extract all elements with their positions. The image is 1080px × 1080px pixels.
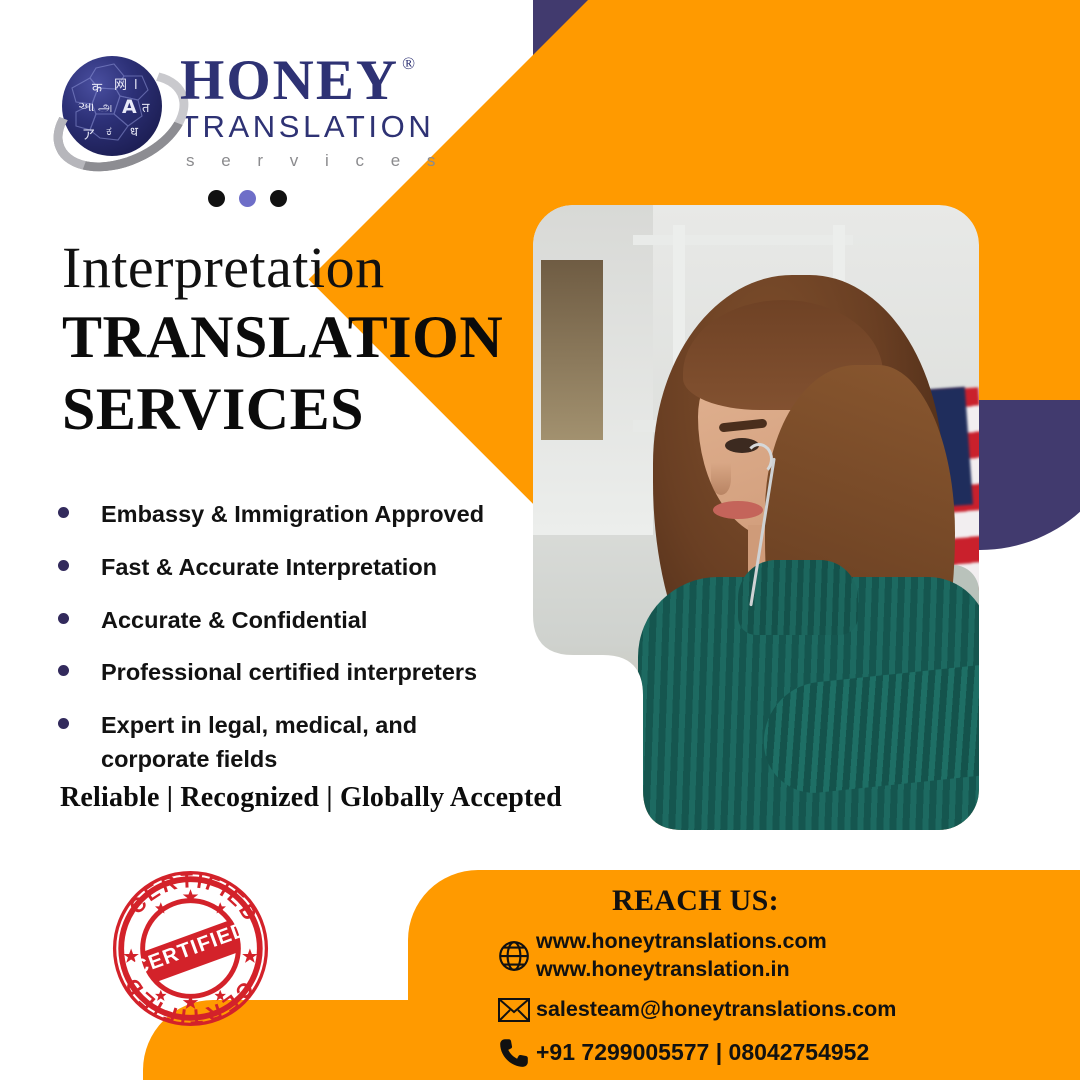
- feature-list: Embassy & Immigration Approved Fast & Ac…: [58, 498, 528, 796]
- tagline: Reliable | Recognized | Globally Accepte…: [60, 782, 562, 814]
- globe-icon: क 网 ا આ அ A त ア ಕ ध: [54, 48, 172, 166]
- list-item: Embassy & Immigration Approved: [58, 498, 528, 532]
- dot-2-accent: [239, 190, 256, 207]
- bullet-icon: [58, 718, 69, 729]
- contact-phone-text: +91 7299005577 | 08042754952: [536, 1038, 869, 1068]
- envelope-icon: [492, 996, 536, 1024]
- contact-heading: REACH US:: [612, 884, 779, 918]
- feature-text: Expert in legal, medical, and corporate …: [101, 709, 456, 777]
- list-item: Expert in legal, medical, and corporate …: [58, 709, 528, 777]
- feature-text: Embassy & Immigration Approved: [101, 498, 484, 532]
- list-item: Fast & Accurate Interpretation: [58, 551, 528, 585]
- bullet-icon: [58, 665, 69, 676]
- contact-list: www.honeytranslations.com www.honeytrans…: [492, 928, 1052, 1080]
- registered-mark: ®: [402, 56, 417, 72]
- feature-text: Fast & Accurate Interpretation: [101, 551, 437, 585]
- bullet-icon: [58, 613, 69, 624]
- brand-name-tertiary: s e r v i c e s: [180, 147, 446, 174]
- globe-icon: [492, 939, 536, 973]
- list-item: Professional certified interpreters: [58, 656, 528, 690]
- contact-row-email[interactable]: salesteam@honeytranslations.com: [492, 996, 1052, 1024]
- flyer-canvas: क 网 ا આ அ A त ア ಕ ध HONEY® TRANSLATION: [0, 0, 1080, 1080]
- bullet-icon: [58, 507, 69, 518]
- bullet-icon: [58, 560, 69, 571]
- contact-row-website[interactable]: www.honeytranslations.com www.honeytrans…: [492, 928, 1052, 984]
- brand-name-secondary: TRANSLATION: [180, 108, 446, 147]
- headline-bold-2: SERVICES: [62, 375, 503, 443]
- contact-email-text: salesteam@honeytranslations.com: [536, 996, 896, 1024]
- headline-block: Interpretation TRANSLATION SERVICES: [62, 238, 503, 444]
- certified-stamp-icon: CERTIFIED CERTIFIED CERTIFIED: [108, 866, 273, 1031]
- website-line-2: www.honeytranslation.in: [536, 956, 827, 984]
- dot-separator: [208, 190, 287, 207]
- contact-row-phone[interactable]: +91 7299005577 | 08042754952: [492, 1036, 1052, 1070]
- brand-name-primary-text: HONEY: [180, 49, 399, 112]
- dot-1: [208, 190, 225, 207]
- list-item: Accurate & Confidential: [58, 604, 528, 638]
- headline-script: Interpretation: [62, 238, 503, 299]
- contact-website-text: www.honeytranslations.com www.honeytrans…: [536, 928, 827, 984]
- hero-photo: [533, 205, 979, 830]
- headline-bold-1: TRANSLATION: [62, 303, 503, 371]
- phone-icon: [492, 1036, 536, 1070]
- website-line-1: www.honeytranslations.com: [536, 929, 827, 953]
- feature-text: Accurate & Confidential: [101, 604, 367, 638]
- brand-logo[interactable]: क 网 ا આ அ A त ア ಕ ध HONEY® TRANSLATION: [54, 48, 446, 174]
- dot-3: [270, 190, 287, 207]
- brand-name-primary: HONEY®: [180, 54, 399, 108]
- feature-text: Professional certified interpreters: [101, 656, 477, 690]
